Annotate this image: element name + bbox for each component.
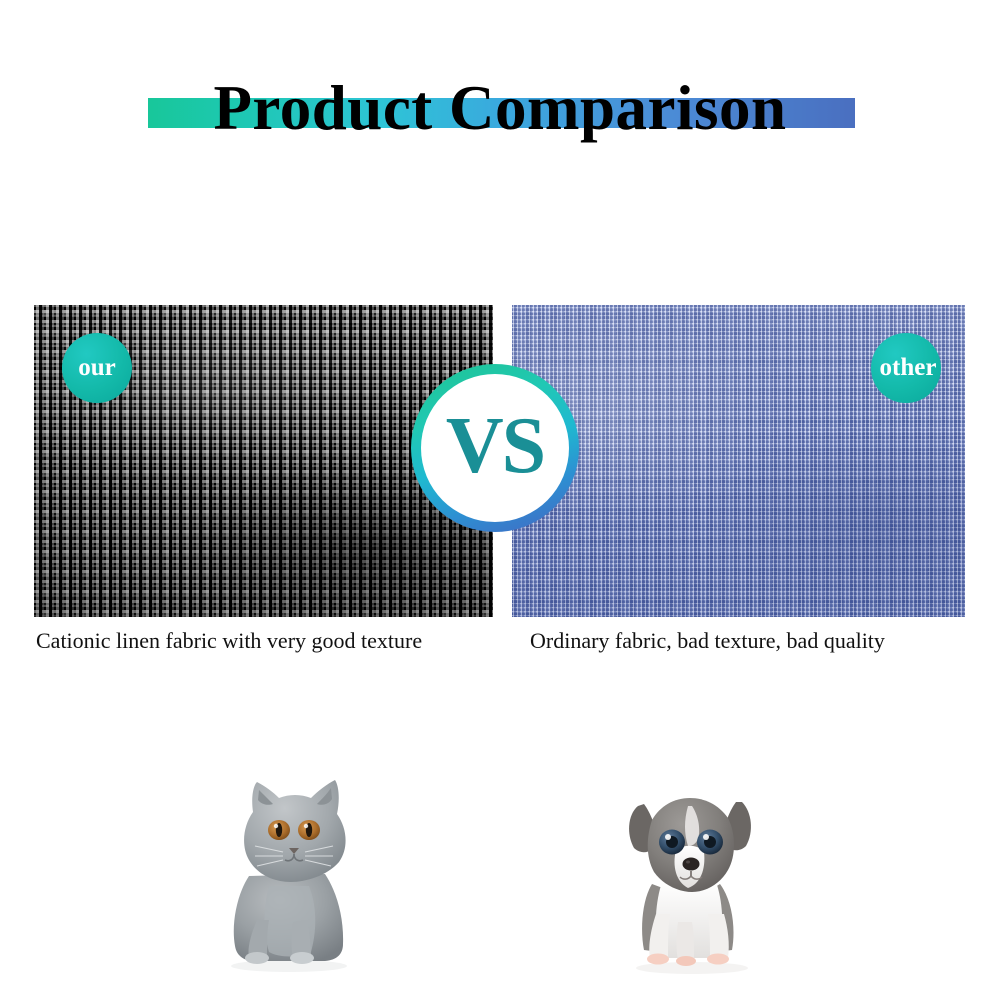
caption-our: Cationic linen fabric with very good tex… — [36, 626, 422, 656]
page-header: Product Comparison — [0, 72, 1000, 144]
vs-medallion-inner: VS — [421, 374, 569, 522]
badge-our-label: our — [78, 354, 116, 382]
vs-label: VS — [446, 406, 544, 486]
page-title: Product Comparison — [0, 72, 1000, 144]
badge-other-label: other — [880, 354, 937, 382]
gray-cat-photo — [197, 768, 377, 978]
badge-other: other — [871, 333, 941, 403]
vs-medallion: VS — [411, 364, 579, 532]
badge-our: our — [62, 333, 132, 403]
caption-other: Ordinary fabric, bad texture, bad qualit… — [530, 626, 885, 656]
chihuahua-puppy-photo — [600, 772, 780, 977]
